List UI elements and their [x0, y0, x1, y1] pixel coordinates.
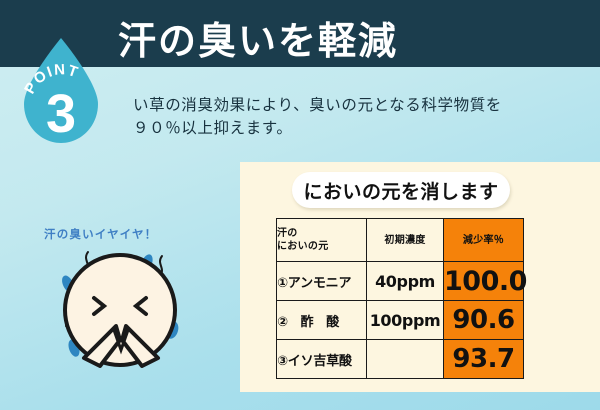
- table-header-row: 汗の においの元 初期濃度 減少率％: [277, 219, 524, 262]
- table-row: ①アンモニア 40ppm 100.0: [277, 262, 524, 301]
- table-header-concentration: 初期濃度: [367, 219, 444, 262]
- row-name: ② 酢 酸: [277, 301, 367, 340]
- result-panel: においの元を消します 汗の においの元 初期濃度 減少率％ ①アンモニア 40p…: [240, 162, 600, 392]
- body-copy-line-1: い草の消臭効果により、臭いの元となる科学物質を: [133, 94, 533, 117]
- table-header-source-line-2: においの元: [277, 240, 366, 253]
- point-badge-number: 3: [46, 84, 76, 144]
- point-badge: POINT 3: [16, 36, 106, 148]
- table-row: ③イソ吉草酸 93.7: [277, 340, 524, 379]
- row-rate: 100.0: [444, 262, 524, 301]
- row-concentration: 100ppm: [367, 301, 444, 340]
- page-title: 汗の臭いを軽減: [118, 10, 398, 65]
- table-header-source: 汗の においの元: [277, 219, 367, 262]
- row-concentration: 40ppm: [367, 262, 444, 301]
- row-concentration: [367, 340, 444, 379]
- illustration-sweaty-face: [22, 218, 222, 393]
- table-header-rate: 減少率％: [444, 219, 524, 262]
- row-rate: 90.6: [444, 301, 524, 340]
- teardrop-icon: POINT 3: [16, 36, 106, 148]
- table-row: ② 酢 酸 100ppm 90.6: [277, 301, 524, 340]
- row-name: ③イソ吉草酸: [277, 340, 367, 379]
- row-name: ①アンモニア: [277, 262, 367, 301]
- panel-pill: においの元を消します: [292, 172, 510, 208]
- slide-canvas: 汗の臭いを軽減 POINT 3 い草の消臭効果により、臭いの元となる科学物質を …: [0, 0, 600, 410]
- odor-reduction-table: 汗の においの元 初期濃度 減少率％ ①アンモニア 40ppm 100.0 ② …: [276, 218, 524, 379]
- panel-pill-label: においの元を消します: [303, 177, 498, 204]
- body-copy: い草の消臭効果により、臭いの元となる科学物質を ９０％以上抑えます。: [133, 94, 533, 140]
- body-copy-line-2: ９０％以上抑えます。: [133, 117, 533, 140]
- table-header-source-line-1: 汗の: [277, 227, 366, 240]
- row-rate: 93.7: [444, 340, 524, 379]
